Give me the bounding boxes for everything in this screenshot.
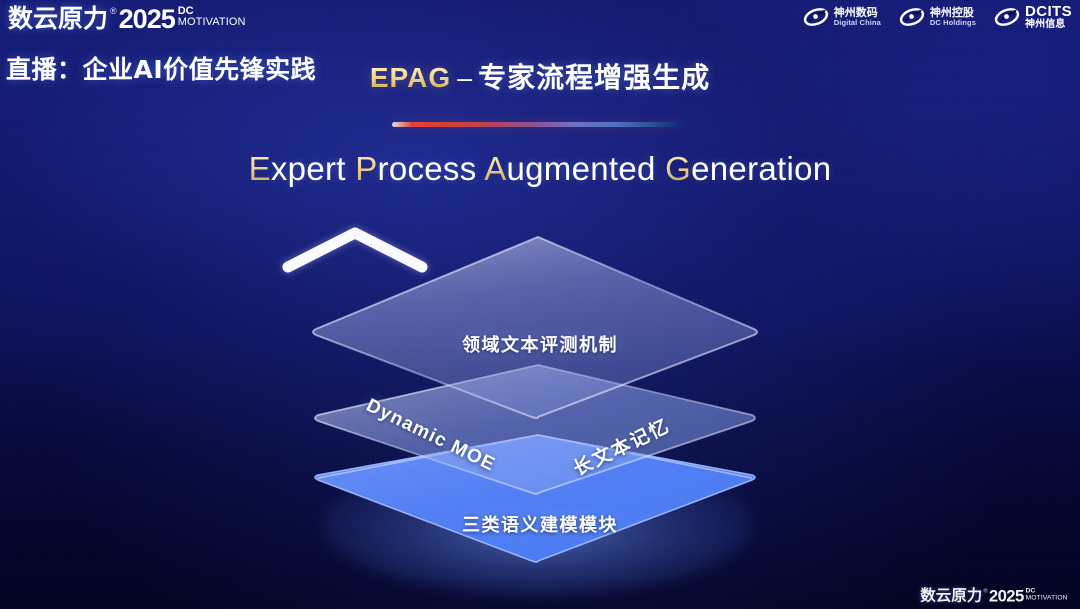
partner-text: DCITS 神州信息 xyxy=(1025,4,1072,30)
title-chinese: 专家流程增强生成 xyxy=(478,61,710,94)
partner-logo-dcits: DCITS 神州信息 xyxy=(994,4,1072,30)
watermark-name-cn: 数云原力 xyxy=(921,586,983,605)
partner-name-cn: DCITS xyxy=(1025,4,1072,20)
subtitle-part-0: E xyxy=(249,150,271,187)
subtitle-part-2: P xyxy=(355,150,377,187)
subtitle-part-5: ugmented xyxy=(507,150,666,187)
subtitle-part-6: G xyxy=(665,150,691,187)
watermark-year: 2025 xyxy=(989,586,1024,605)
title-acronym: EPAG xyxy=(370,62,451,93)
brand-registered-mark: ® xyxy=(110,4,117,18)
brand-year: 2025 xyxy=(119,4,175,34)
swoosh-logo-icon xyxy=(994,6,1020,28)
subtitle-part-1: xpert xyxy=(271,150,355,187)
page-title: EPAG–专家流程增强生成 xyxy=(0,56,1080,96)
subtitle-part-4: A xyxy=(484,150,506,187)
partner-text: 神州控股 DC Holdings xyxy=(930,7,976,26)
title-dash: – xyxy=(457,63,472,93)
brand-logo: 数云原力 ® 2025 DC MOTIVATION xyxy=(8,4,246,34)
swoosh-logo-icon xyxy=(899,6,925,28)
watermark-registered-mark: ® xyxy=(984,586,988,595)
partner-logo-group: 神州数码 Digital China 神州控股 DC Holdings xyxy=(803,4,1072,30)
brand-motivation-label: MOTIVATION xyxy=(178,17,246,28)
partner-logo-digital-china: 神州数码 Digital China xyxy=(803,6,881,28)
chevron-up-icon xyxy=(280,225,430,273)
brand-dc-motivation: DC MOTIVATION xyxy=(178,6,246,28)
partner-logo-dc-holdings: 神州控股 DC Holdings xyxy=(899,6,976,28)
subtitle-part-7: eneration xyxy=(691,150,831,187)
partner-name-en: DC Holdings xyxy=(930,19,976,27)
partner-name-en: 神州信息 xyxy=(1025,20,1072,31)
layered-architecture-diagram: 领域文本评测机制 Dynamic MOE 长文本记忆 三类语义建模模块 xyxy=(280,225,800,585)
brand-name-cn: 数云原力 xyxy=(8,4,108,34)
slide-root: 数云原力 ® 2025 DC MOTIVATION 直播：企业AI价值先锋实践 … xyxy=(0,0,1080,609)
title-divider xyxy=(392,122,682,127)
watermark-logo: 数云原力 ® 2025 DC MOTIVATION xyxy=(921,586,1068,605)
page-subtitle: Expert Process Augmented Generation xyxy=(0,150,1080,188)
swoosh-logo-icon xyxy=(803,6,829,28)
partner-name-en: Digital China xyxy=(834,19,881,27)
subtitle-part-3: rocess xyxy=(378,150,485,187)
diagram-canvas xyxy=(280,225,800,585)
partner-text: 神州数码 Digital China xyxy=(834,7,881,26)
watermark-motivation-label: MOTIVATION xyxy=(1026,594,1068,601)
watermark-dc-motivation: DC MOTIVATION xyxy=(1026,588,1068,602)
